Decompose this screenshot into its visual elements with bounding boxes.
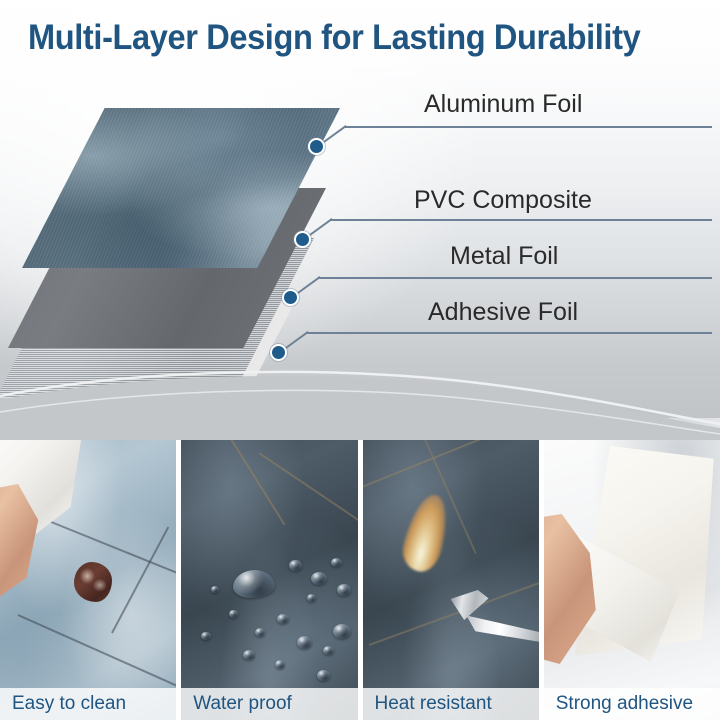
curved-divider [0,370,720,440]
caption-easy-to-clean: Easy to clean [12,693,126,715]
callout-dot-adhesive-foil [270,344,287,361]
feature-photo-strong-adhesive: Strong adhesive [544,418,720,720]
feature-photo-water-proof: Water proof [181,418,357,720]
product-infographic-poster: Multi-Layer Design for Lasting Durabilit… [0,0,720,720]
water-droplet [229,610,238,618]
water-droplet [297,636,312,649]
water-droplet [337,584,351,596]
caption-strong-adhesive: Strong adhesive [556,693,693,715]
grout-line [18,614,177,697]
water-droplet [333,624,351,639]
photo-art-tile-surface [0,418,176,720]
callout-leader-line-adhesive-foil [306,332,712,334]
callout-leader-line-metal-foil [318,277,712,279]
callout-label-metal-foil: Metal Foil [450,242,558,271]
water-droplet-large [233,570,275,598]
feature-photo-heat-resistant: Heat resistant [363,418,539,720]
caption-water-proof: Water proof [193,693,292,715]
caption-band: Water proof [181,688,357,720]
layer-diagram-section: Multi-Layer Design for Lasting Durabilit… [0,0,720,430]
grout-line [259,452,358,538]
callout-label-aluminum-foil: Aluminum Foil [424,90,582,119]
stain-spot [74,562,112,602]
water-droplet [289,560,302,571]
flame [398,491,454,576]
callout-dot-pvc-composite [294,231,311,248]
callout-leader-line-pvc-composite [330,219,712,221]
caption-band: Strong adhesive [544,688,720,720]
lighter-head [451,590,489,620]
feature-photo-grid: Easy to clean [0,418,720,720]
grout-line [111,527,169,634]
water-droplet [277,614,289,624]
water-droplet [275,660,285,669]
feature-photo-easy-to-clean: Easy to clean [0,418,176,720]
photo-art-tile-with-flame [363,418,539,720]
water-droplet [323,646,334,655]
callout-label-adhesive-foil: Adhesive Foil [428,298,578,327]
callout-group: Aluminum Foil PVC Composite Metal Foil A… [0,0,720,430]
water-droplet [201,632,211,640]
divider-fill [0,376,720,440]
photo-art-adhesive-peel [544,418,720,720]
water-droplet [243,650,255,660]
water-droplet [317,670,330,681]
caption-band: Heat resistant [363,688,539,720]
water-droplet [307,594,316,602]
callout-label-pvc-composite: PVC Composite [414,186,592,215]
callout-leader-line-aluminum-foil [344,126,712,128]
callout-dot-metal-foil [282,289,299,306]
water-droplet [311,572,327,585]
water-droplet [211,586,219,593]
photo-art-wet-tile [181,418,357,720]
lighter-body [467,604,539,648]
callout-dot-aluminum-foil [308,138,325,155]
caption-heat-resistant: Heat resistant [375,693,492,715]
water-droplet [331,558,342,567]
caption-band: Easy to clean [0,688,176,720]
water-droplet [255,628,265,637]
